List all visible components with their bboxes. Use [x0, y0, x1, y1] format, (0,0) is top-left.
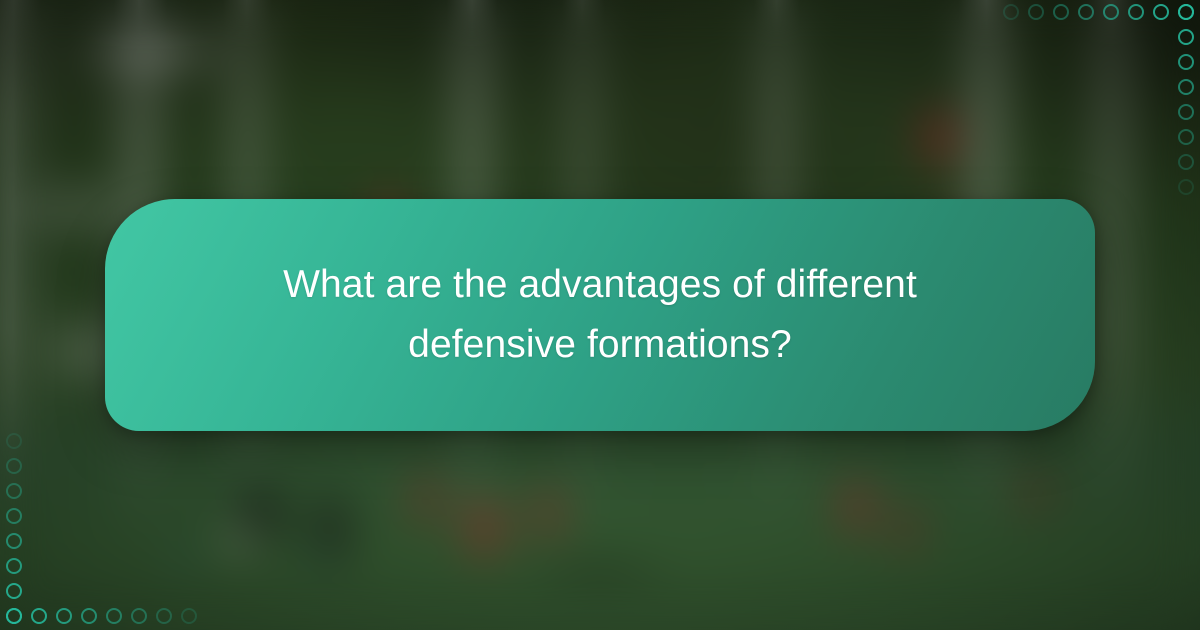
question-card-stage: What are the advantages of different def…	[0, 0, 1200, 630]
question-text: What are the advantages of different def…	[260, 255, 940, 376]
question-card: What are the advantages of different def…	[105, 199, 1095, 431]
